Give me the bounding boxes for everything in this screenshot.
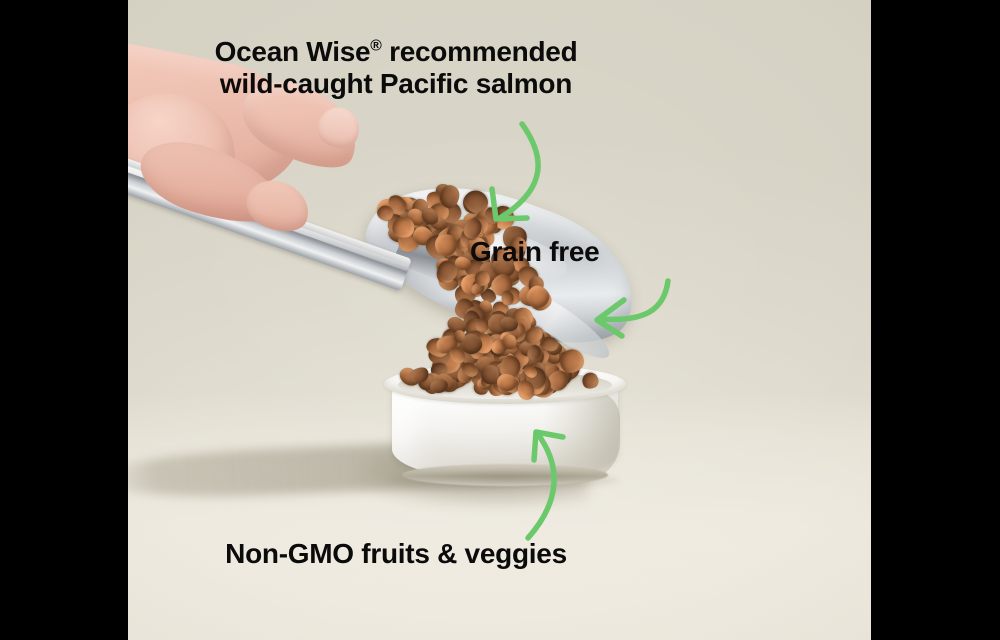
registered-trademark-icon: ® — [370, 38, 381, 55]
screenshot-canvas: Ocean Wise® recommended wild-caught Paci… — [0, 0, 1000, 640]
brand-ocean-wise: Ocean Wise — [215, 36, 371, 67]
annotation-salmon-line1: Ocean Wise® recommended — [176, 36, 616, 68]
annotation-non-gmo: Non-GMO fruits & veggies — [176, 538, 616, 570]
annotation-salmon-line2: wild-caught Pacific salmon — [176, 68, 616, 100]
annotation-salmon: Ocean Wise® recommended wild-caught Paci… — [176, 36, 616, 101]
annotation-grain-free: Grain free — [470, 236, 599, 268]
letterbox-left — [0, 0, 128, 640]
kibble-piece — [580, 370, 602, 391]
letterbox-right — [871, 0, 1000, 640]
annotation-salmon-line1-rest: recommended — [382, 36, 578, 67]
